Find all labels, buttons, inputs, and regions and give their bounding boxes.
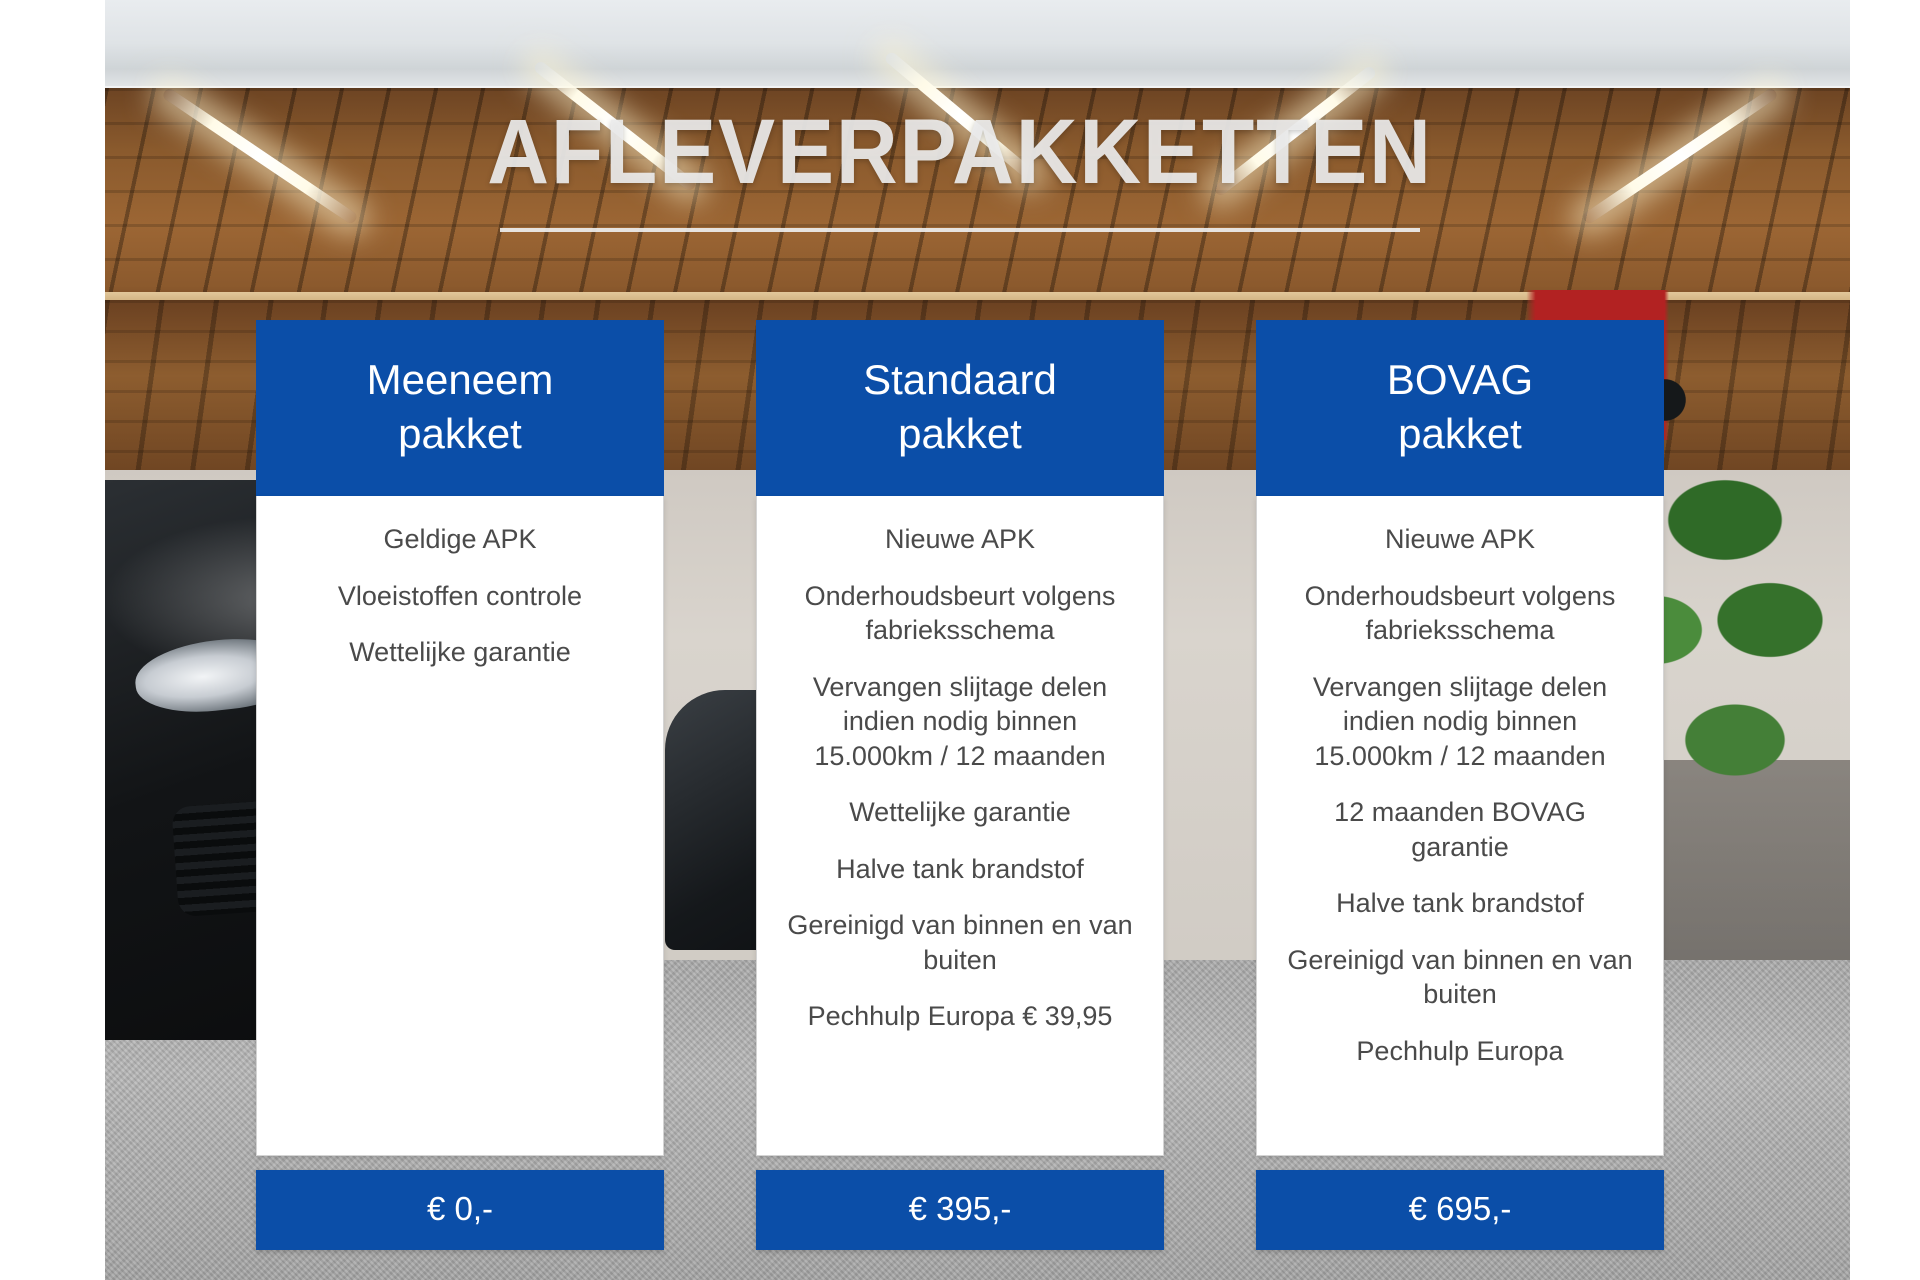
package-price[interactable]: € 0,- xyxy=(256,1170,664,1250)
feature-item: Pechhulp Europa € 39,95 xyxy=(783,999,1137,1034)
feature-item: Onderhoudsbeurt volgens fabrieksschema xyxy=(1283,579,1637,648)
package-card-header: BOVAG pakket xyxy=(1256,320,1664,496)
package-title-line1: Standaard xyxy=(863,353,1057,407)
feature-item: Wettelijke garantie xyxy=(783,795,1137,830)
feature-item: Gereinigd van binnen en van buiten xyxy=(1283,943,1637,1012)
package-title-line2: pakket xyxy=(863,407,1057,461)
feature-item: Halve tank brandstof xyxy=(783,852,1137,887)
package-feature-list: Geldige APK Vloeistoffen controle Wettel… xyxy=(256,496,664,1156)
feature-item: Geldige APK xyxy=(283,522,637,557)
package-feature-list: Nieuwe APK Onderhoudsbeurt volgens fabri… xyxy=(1256,496,1664,1156)
page-title: AFLEVERPAKKETTEN xyxy=(67,106,1853,198)
package-card-header: Meeneem pakket xyxy=(256,320,664,496)
package-title-line1: BOVAG xyxy=(1387,353,1533,407)
poster-page: AFLEVERPAKKETTEN Meeneem pakket Geldige … xyxy=(0,0,1920,1280)
package-card-header: Standaard pakket xyxy=(756,320,1164,496)
feature-item: 12 maanden BOVAG garantie xyxy=(1283,795,1637,864)
package-card-bovag[interactable]: BOVAG pakket Nieuwe APK Onderhoudsbeurt … xyxy=(1256,320,1664,1250)
package-price[interactable]: € 695,- xyxy=(1256,1170,1664,1250)
package-card-meeneem[interactable]: Meeneem pakket Geldige APK Vloeistoffen … xyxy=(256,320,664,1250)
package-title-line2: pakket xyxy=(1387,407,1533,461)
package-card-standaard[interactable]: Standaard pakket Nieuwe APK Onderhoudsbe… xyxy=(756,320,1164,1250)
package-title-line2: pakket xyxy=(367,407,554,461)
feature-list-spacer xyxy=(1283,1091,1637,1135)
package-card-list: Meeneem pakket Geldige APK Vloeistoffen … xyxy=(0,320,1920,1250)
feature-item: Vervangen slijtage delen indien nodig bi… xyxy=(783,670,1137,774)
ceiling-shape xyxy=(105,0,1850,96)
package-feature-list: Nieuwe APK Onderhoudsbeurt volgens fabri… xyxy=(756,496,1164,1156)
package-price[interactable]: € 395,- xyxy=(756,1170,1164,1250)
feature-list-spacer xyxy=(783,1056,1137,1135)
feature-item: Onderhoudsbeurt volgens fabrieksschema xyxy=(783,579,1137,648)
feature-item: Vervangen slijtage delen indien nodig bi… xyxy=(1283,670,1637,774)
feature-item: Nieuwe APK xyxy=(783,522,1137,557)
feature-item: Gereinigd van binnen en van buiten xyxy=(783,908,1137,977)
feature-list-spacer xyxy=(283,692,637,1135)
feature-item: Halve tank brandstof xyxy=(1283,886,1637,921)
title-underline-divider xyxy=(500,228,1420,232)
feature-item: Wettelijke garantie xyxy=(283,635,637,670)
feature-item: Nieuwe APK xyxy=(1283,522,1637,557)
feature-item: Pechhulp Europa xyxy=(1283,1034,1637,1069)
package-title-line1: Meeneem xyxy=(367,353,554,407)
feature-item: Vloeistoffen controle xyxy=(283,579,637,614)
